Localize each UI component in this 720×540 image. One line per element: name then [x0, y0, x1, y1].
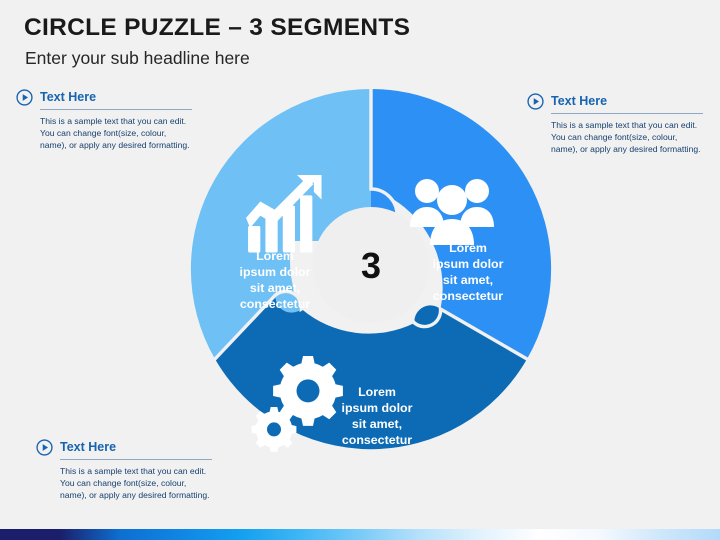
segment-left-label-line4: consectetur [240, 297, 310, 311]
callout-bottom-body: This is a sample text that you can edit.… [60, 465, 228, 502]
callout-bottom-title: Text Here [60, 441, 116, 454]
circle-puzzle-svg: 3 [182, 80, 560, 466]
segment-left-label-line2: ipsum dolor [240, 265, 311, 279]
callout-bottom-line1: This is a sample text that you can edit. [60, 465, 228, 477]
segment-right-label-line2: ipsum dolor [433, 257, 504, 271]
segment-left-label-line1: Lorem [256, 249, 294, 263]
play-circle-icon[interactable] [36, 439, 53, 456]
callout-bottom-line3: name), or apply any desired formatting. [60, 489, 228, 501]
page-title: CIRCLE PUZZLE – 3 SEGMENTS [24, 14, 410, 42]
callout-right-body: This is a sample text that you can edit.… [551, 119, 719, 156]
callout-left[interactable]: Text Here This is a sample text that you… [16, 88, 204, 152]
segment-bottom-label-line2: ipsum dolor [342, 401, 413, 415]
callout-bottom-line2: You can change font(size, colour, [60, 477, 228, 489]
center-hub-value: 3 [361, 245, 381, 286]
callout-right-line1: This is a sample text that you can edit. [551, 119, 719, 131]
segment-bottom-label-line3: sit amet, [352, 417, 402, 431]
segment-right-label-line3: sit amet, [443, 273, 493, 287]
bottom-gradient-bar [0, 529, 720, 540]
callout-left-divider [40, 109, 192, 110]
segment-left-label-line3: sit amet, [250, 281, 300, 295]
segment-bottom-label-line1: Lorem [358, 385, 396, 399]
callout-left-header: Text Here [16, 88, 204, 106]
segment-right-label-line4: consectetur [433, 289, 503, 303]
callout-left-title: Text Here [40, 91, 96, 104]
play-circle-icon[interactable] [16, 89, 33, 106]
segment-bottom-label-line4: consectetur [342, 433, 412, 447]
callout-right-line2: You can change font(size, colour, [551, 131, 719, 143]
segment-right-label-line1: Lorem [449, 241, 487, 255]
circle-puzzle-diagram: 3 [182, 80, 560, 466]
callout-right-line3: name), or apply any desired formatting. [551, 143, 719, 155]
page-subtitle: Enter your sub headline here [25, 48, 250, 69]
slide-canvas: CIRCLE PUZZLE – 3 SEGMENTS Enter your su… [0, 0, 720, 540]
callout-right-divider [551, 113, 703, 114]
